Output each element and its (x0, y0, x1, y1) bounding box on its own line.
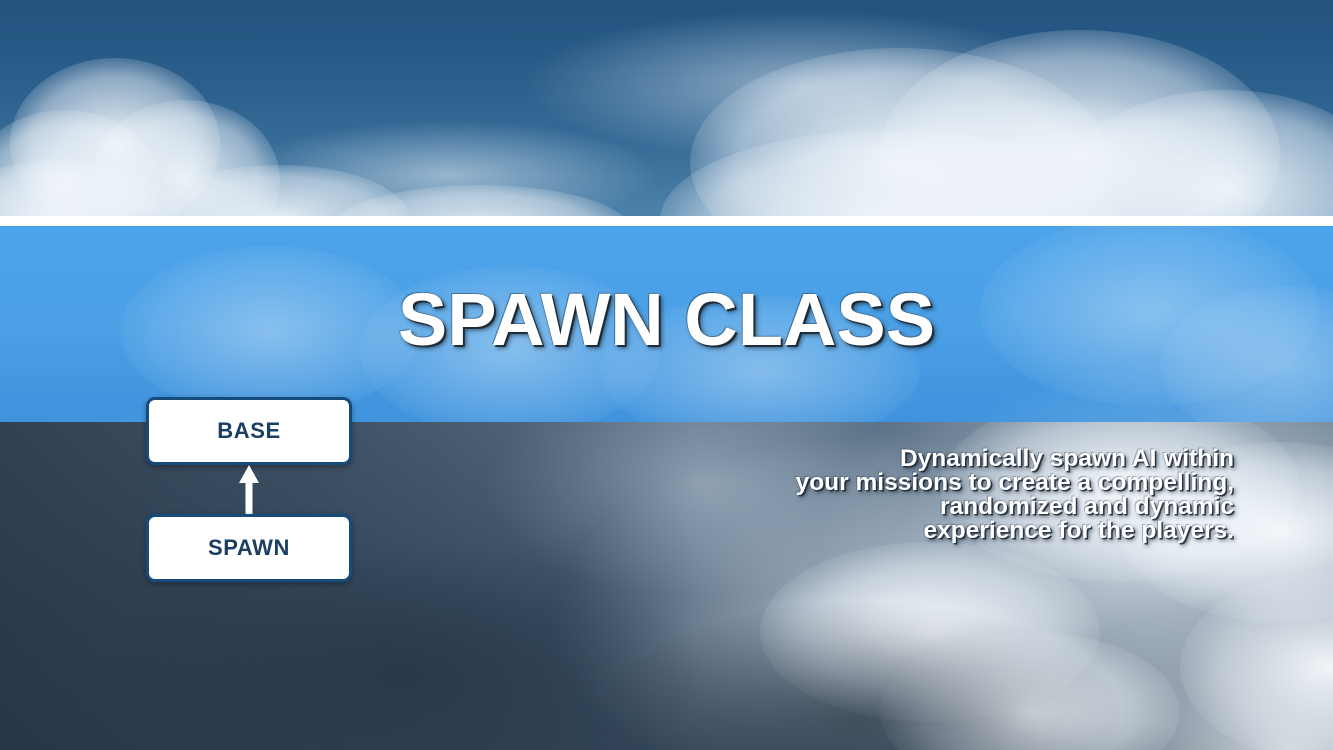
description-line: Dynamically spawn AI within (674, 447, 1234, 471)
slide-root: SPAWN CLASS BASE SPAWN Dynamically spawn… (0, 0, 1333, 750)
sky-top-background (0, 0, 1333, 217)
inheritance-arrow-icon (233, 465, 265, 515)
description-text: Dynamically spawn AI within your mission… (674, 447, 1234, 543)
description-line: your missions to create a compelling, (674, 471, 1234, 495)
page-title: SPAWN CLASS (0, 283, 1333, 357)
description-line: experience for the players. (674, 519, 1234, 543)
class-node-spawn-label: SPAWN (208, 535, 290, 561)
class-node-base-label: BASE (217, 418, 281, 444)
horizontal-divider (0, 216, 1333, 226)
description-line: randomized and dynamic (674, 495, 1234, 519)
class-node-base[interactable]: BASE (146, 397, 352, 465)
class-node-spawn[interactable]: SPAWN (146, 514, 352, 582)
